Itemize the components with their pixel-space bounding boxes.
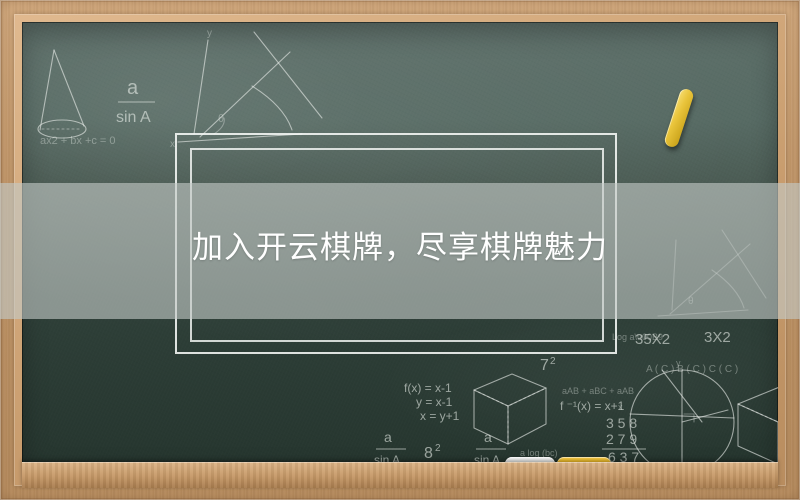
banner-image: a sin A y x θ ax2 + bx +c =: [0, 0, 800, 500]
page-title: 加入开云棋牌，尽享棋牌魅力: [0, 228, 800, 268]
chalk-ledge: [22, 462, 778, 488]
